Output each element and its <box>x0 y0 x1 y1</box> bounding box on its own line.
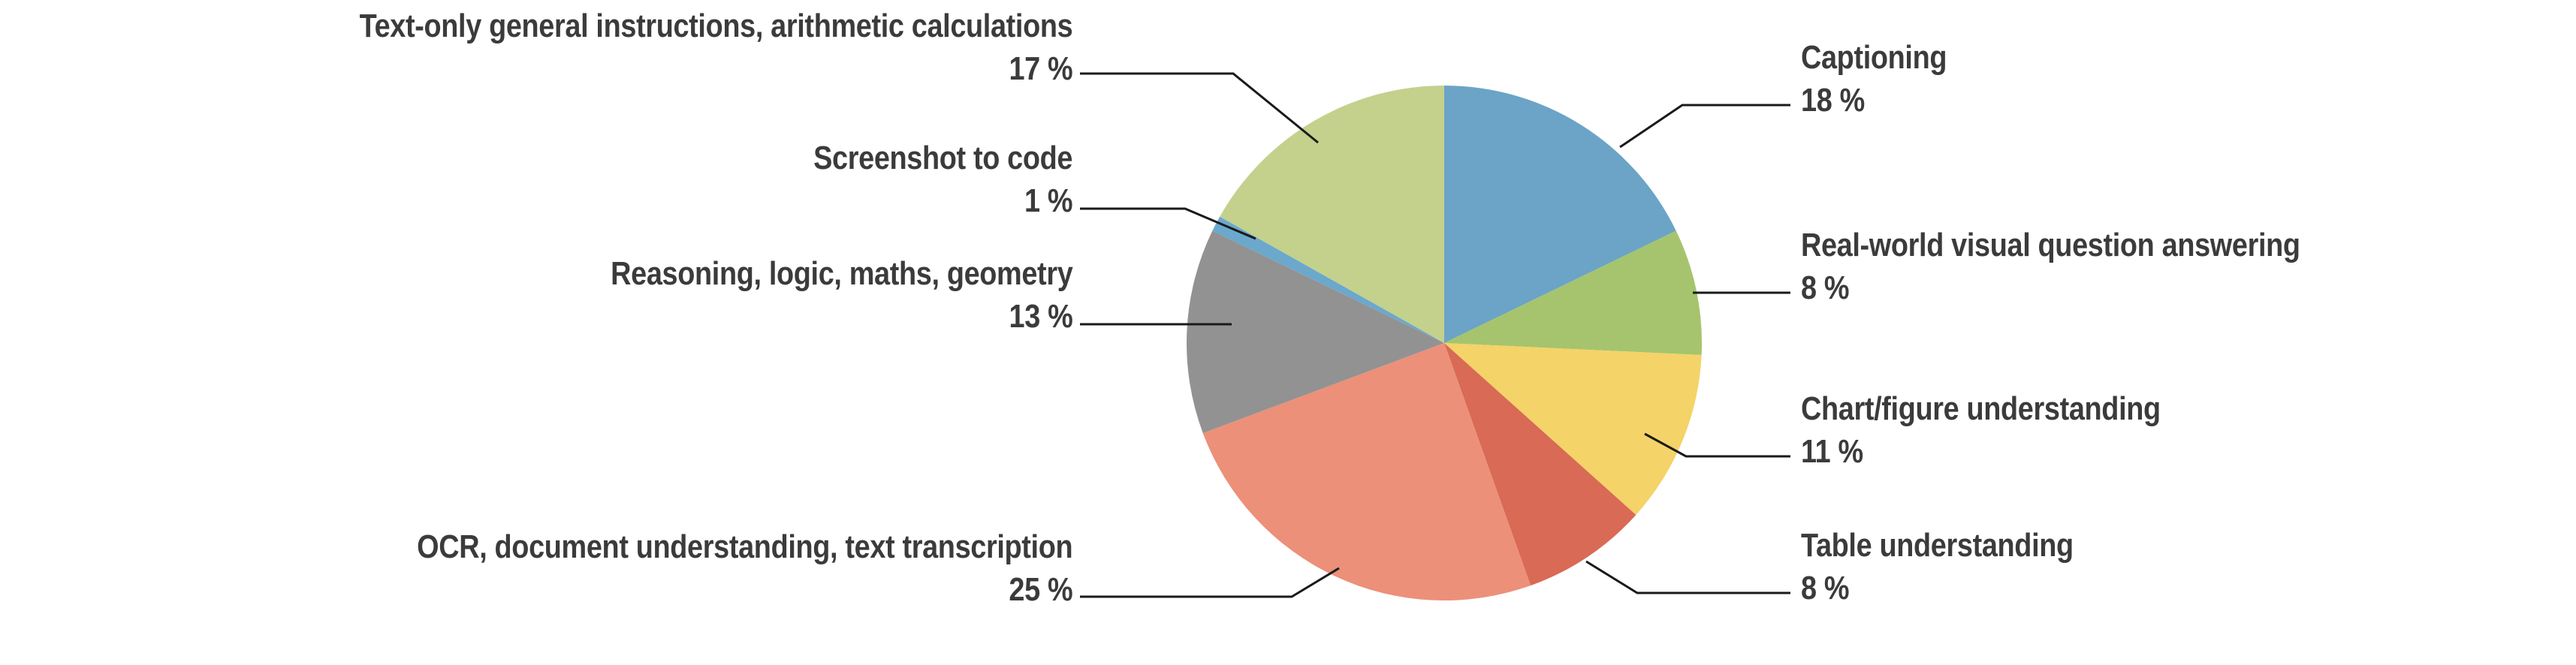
pie-label-captioning: Captioning 18 % <box>1801 36 1947 122</box>
pie-label-captioning-value: 18 % <box>1801 79 1947 122</box>
pie-label-real-world-vqa-value: 8 % <box>1801 266 2300 309</box>
pie-label-reasoning-value: 13 % <box>611 295 1072 338</box>
pie-label-reasoning: Reasoning, logic, maths, geometry 13 % <box>611 252 1072 338</box>
leader-line-text-only <box>1080 74 1318 143</box>
leader-line-table-understanding <box>1586 561 1790 593</box>
pie-label-table-understanding: Table understanding 8 % <box>1801 524 2074 609</box>
pie-label-captioning-name: Captioning <box>1801 36 1947 79</box>
pie-label-chart-figure-value: 11 % <box>1801 430 2161 473</box>
pie-label-chart-figure: Chart/figure understanding 11 % <box>1801 387 2161 473</box>
pie-label-chart-figure-name: Chart/figure understanding <box>1801 387 2161 430</box>
pie-label-ocr-document-value: 25 % <box>417 568 1072 611</box>
pie-label-ocr-document-name: OCR, document understanding, text transc… <box>417 525 1072 568</box>
pie-label-text-only-value: 17 % <box>359 47 1072 90</box>
pie-label-screenshot-to-code-name: Screenshot to code <box>813 137 1072 179</box>
pie-label-screenshot-to-code-value: 1 % <box>813 179 1072 222</box>
pie-label-reasoning-name: Reasoning, logic, maths, geometry <box>611 252 1072 295</box>
pie-label-table-understanding-value: 8 % <box>1801 567 2074 609</box>
pie-chart-svg <box>0 0 2576 665</box>
pie-label-table-understanding-name: Table understanding <box>1801 524 2074 567</box>
leader-line-ocr-document <box>1080 568 1339 597</box>
pie-slices <box>1187 86 1702 600</box>
pie-label-text-only: Text-only general instructions, arithmet… <box>359 5 1072 90</box>
pie-label-real-world-vqa: Real-world visual question answering 8 % <box>1801 224 2300 309</box>
pie-label-real-world-vqa-name: Real-world visual question answering <box>1801 224 2300 266</box>
pie-chart-figure: Text-only general instructions, arithmet… <box>0 0 2576 665</box>
pie-label-screenshot-to-code: Screenshot to code 1 % <box>813 137 1072 222</box>
leader-line-captioning <box>1620 105 1790 147</box>
pie-label-text-only-name: Text-only general instructions, arithmet… <box>359 5 1072 47</box>
pie-label-ocr-document: OCR, document understanding, text transc… <box>417 525 1072 611</box>
